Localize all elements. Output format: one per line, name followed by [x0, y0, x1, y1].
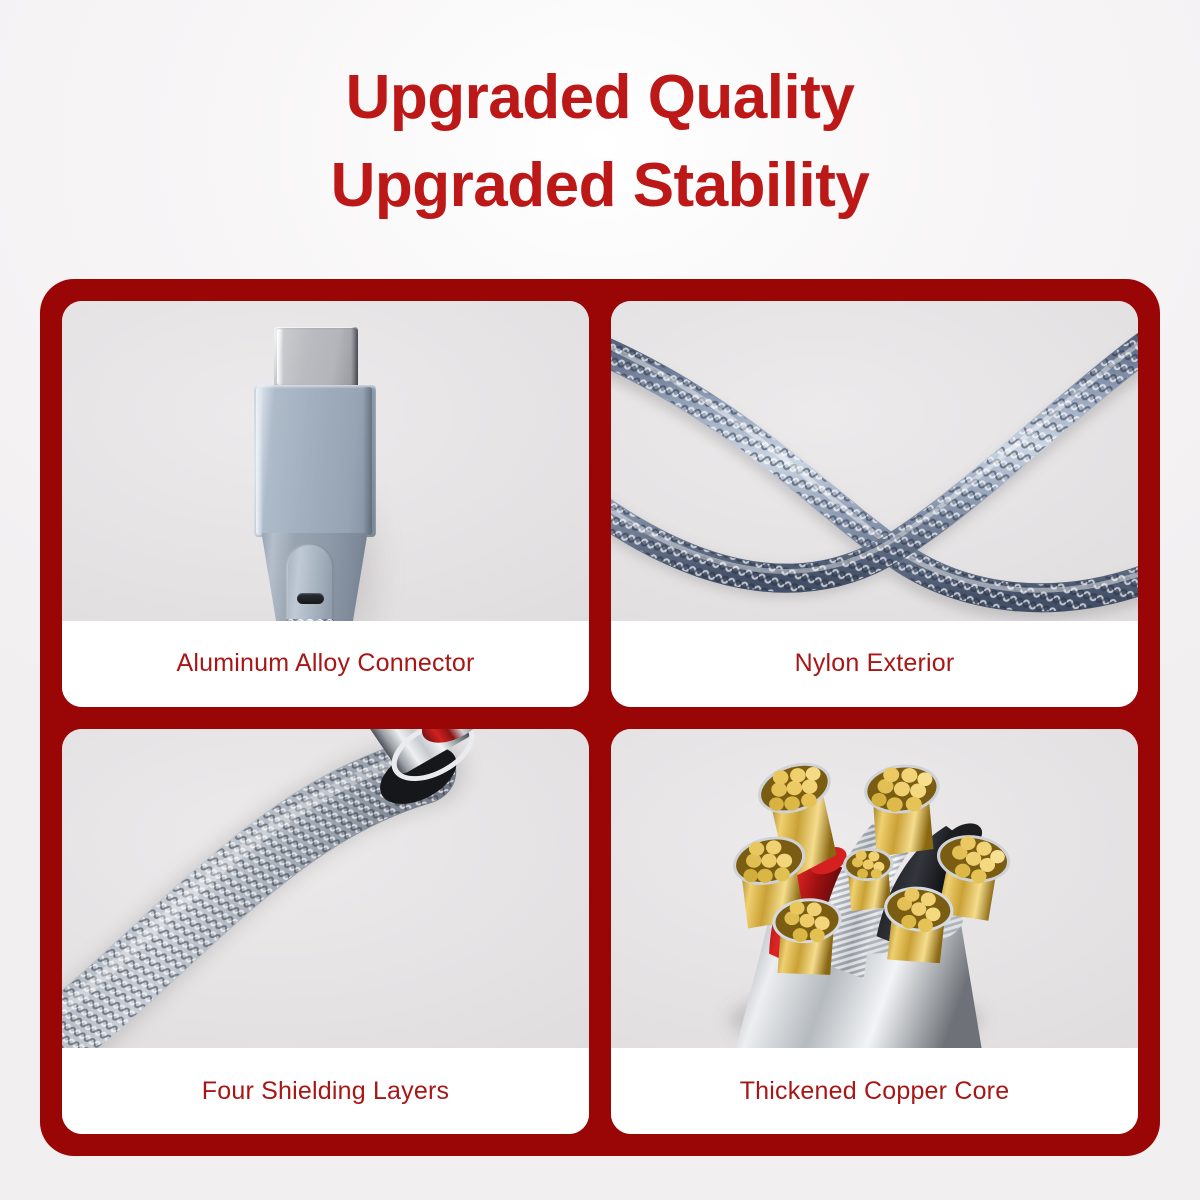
feature-card-aluminum-alloy-connector[interactable]: Aluminum Alloy Connector — [62, 301, 589, 707]
feature-card-four-shielding-layers[interactable]: Four Shielding Layers — [62, 729, 589, 1135]
copper-core-image — [611, 729, 1138, 1049]
nylon-cable-b — [611, 333, 1138, 578]
feature-card-nylon-exterior[interactable]: Nylon Exterior — [611, 301, 1138, 707]
page-title: Upgraded Quality Upgraded Stability — [0, 54, 1200, 230]
caption-text: Thickened Copper Core — [740, 1077, 1010, 1106]
feature-card-thickened-copper-core[interactable]: Thickened Copper Core — [611, 729, 1138, 1135]
shielded-cable-illustration — [62, 729, 589, 1049]
shielding-layers-image — [62, 729, 589, 1049]
braided-cable-tail — [286, 619, 334, 621]
feature-grid: Aluminum Alloy Connector — [40, 279, 1160, 1156]
caption-bar-nylon-exterior: Nylon Exterior — [611, 621, 1138, 707]
caption-bar-aluminum-alloy-connector: Aluminum Alloy Connector — [62, 621, 589, 707]
usb-c-plug-tip — [274, 327, 358, 387]
usb-c-connector-image — [62, 301, 589, 621]
boot-tab — [288, 545, 332, 621]
aluminum-housing — [254, 385, 376, 537]
copper-core-illustration — [611, 729, 1138, 1049]
caption-bar-four-shielding-layers: Four Shielding Layers — [62, 1048, 589, 1134]
caption-text: Four Shielding Layers — [202, 1077, 449, 1106]
housing-shade-right — [363, 387, 372, 535]
nylon-braid-image — [611, 301, 1138, 621]
caption-text: Aluminum Alloy Connector — [177, 649, 475, 678]
boot-indicator-slot — [297, 593, 324, 604]
page-title-line-2: Upgraded Stability — [0, 142, 1200, 230]
caption-bar-thickened-copper-core: Thickened Copper Core — [611, 1048, 1138, 1134]
housing-highlight-left — [256, 387, 263, 535]
nylon-cable-illustration — [611, 301, 1138, 621]
page-title-line-1: Upgraded Quality — [0, 54, 1200, 142]
caption-text: Nylon Exterior — [795, 649, 955, 678]
braided-shield-cable — [62, 756, 420, 1048]
